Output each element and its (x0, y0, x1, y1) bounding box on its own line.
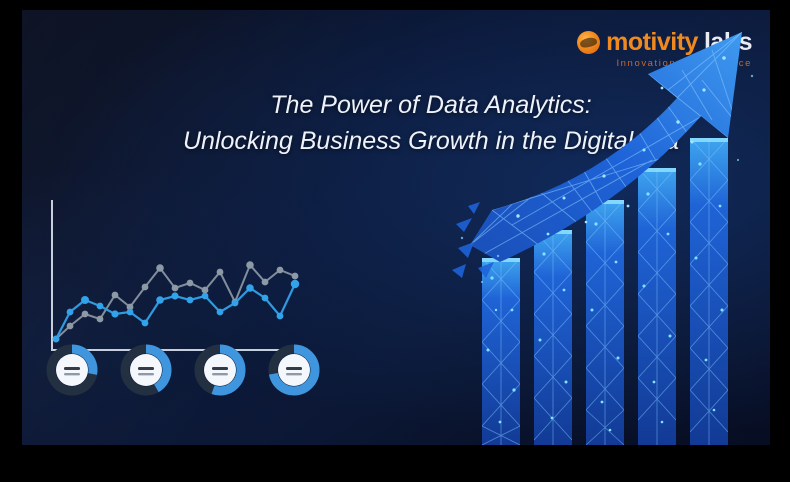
low-poly-growth-arrow-graphic (452, 10, 770, 445)
screenshot-root: motivitylabs Innovation as a Service The… (0, 0, 790, 482)
analytics-line-chart-graphic (32, 192, 322, 422)
growth-bar-4 (638, 168, 676, 445)
kpi-gauge-1[interactable] (46, 344, 98, 396)
kpi-gauge-3[interactable] (194, 344, 246, 396)
growth-bar-1 (482, 258, 520, 445)
presentation-slide: motivitylabs Innovation as a Service The… (22, 10, 770, 445)
growth-bar-5 (690, 138, 728, 445)
growth-bar-3 (586, 200, 624, 445)
growth-bar-2 (534, 230, 572, 445)
kpi-gauge-row (46, 344, 320, 396)
kpi-gauge-4[interactable] (268, 344, 320, 396)
line-chart-svg (32, 192, 322, 357)
kpi-gauge-2[interactable] (120, 344, 172, 396)
